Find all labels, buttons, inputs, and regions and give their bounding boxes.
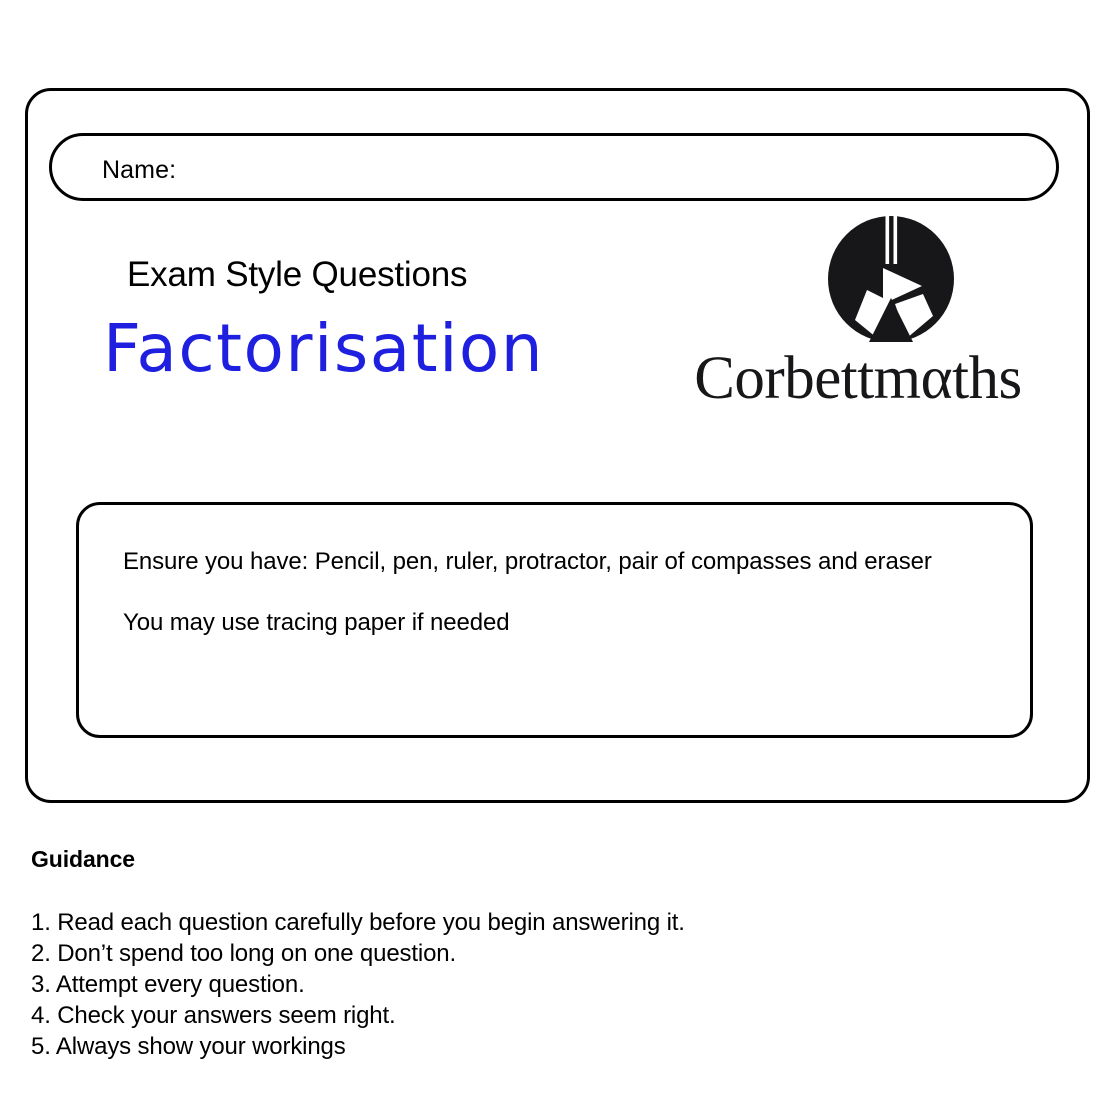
guidance-item: 3. Attempt every question. — [31, 969, 931, 1000]
equipment-line-2: You may use tracing paper if needed — [123, 608, 510, 638]
equipment-instructions-box: Ensure you have: Pencil, pen, ruler, pro… — [76, 502, 1033, 738]
guidance-section: Guidance 1. Read each question carefully… — [31, 845, 931, 1062]
worksheet-title: Factorisation — [103, 309, 544, 389]
name-input-field[interactable]: Name: — [49, 133, 1059, 201]
equipment-line-1: Ensure you have: Pencil, pen, ruler, pro… — [123, 547, 932, 577]
guidance-item: 4. Check your answers seem right. — [31, 1000, 931, 1031]
guidance-heading: Guidance — [31, 845, 931, 873]
guidance-item: 2. Don’t spend too long on one question. — [31, 938, 931, 969]
corbettmaths-wordmark: Corbettmαths — [668, 344, 1048, 414]
brand-block: Corbettmαths — [668, 216, 1048, 416]
guidance-item: 1. Read each question carefully before y… — [31, 907, 931, 938]
name-label: Name: — [102, 155, 176, 185]
exam-style-questions-heading: Exam Style Questions — [127, 254, 467, 296]
corbettmaths-logo-icon — [821, 216, 961, 346]
guidance-item: 5. Always show your workings — [31, 1031, 931, 1062]
guidance-list: 1. Read each question carefully before y… — [31, 907, 931, 1062]
exam-paper-frame: Name: Exam Style Questions Factorisation — [25, 88, 1090, 803]
